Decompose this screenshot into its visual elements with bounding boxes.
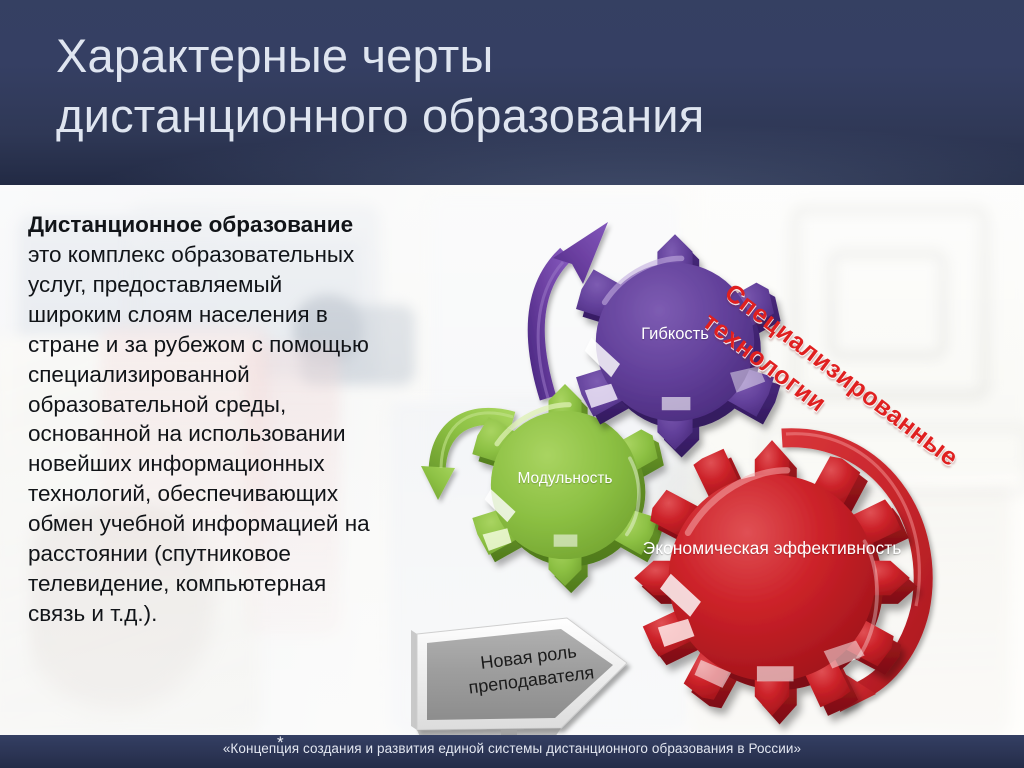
footnote-star: * — [277, 733, 284, 753]
body-rest: это комплекс образовательных услуг, пред… — [28, 242, 370, 626]
gear-economic-efficiency: Экономическая эффективность — [632, 438, 912, 718]
slide: Характерные черты дистанционного образов… — [0, 0, 1024, 768]
footnote: *«Концепция создания и развития единой с… — [0, 741, 1024, 756]
page-title: Характерные черты дистанционного образов… — [56, 26, 986, 146]
footnote-text: «Концепция создания и развития единой си… — [223, 741, 801, 756]
body-lead-term: Дистанционное образование — [28, 212, 353, 237]
banner-new-role: Новая роль преподавателя — [405, 608, 645, 743]
body-paragraph: Дистанционное образование это комплекс о… — [28, 210, 380, 629]
